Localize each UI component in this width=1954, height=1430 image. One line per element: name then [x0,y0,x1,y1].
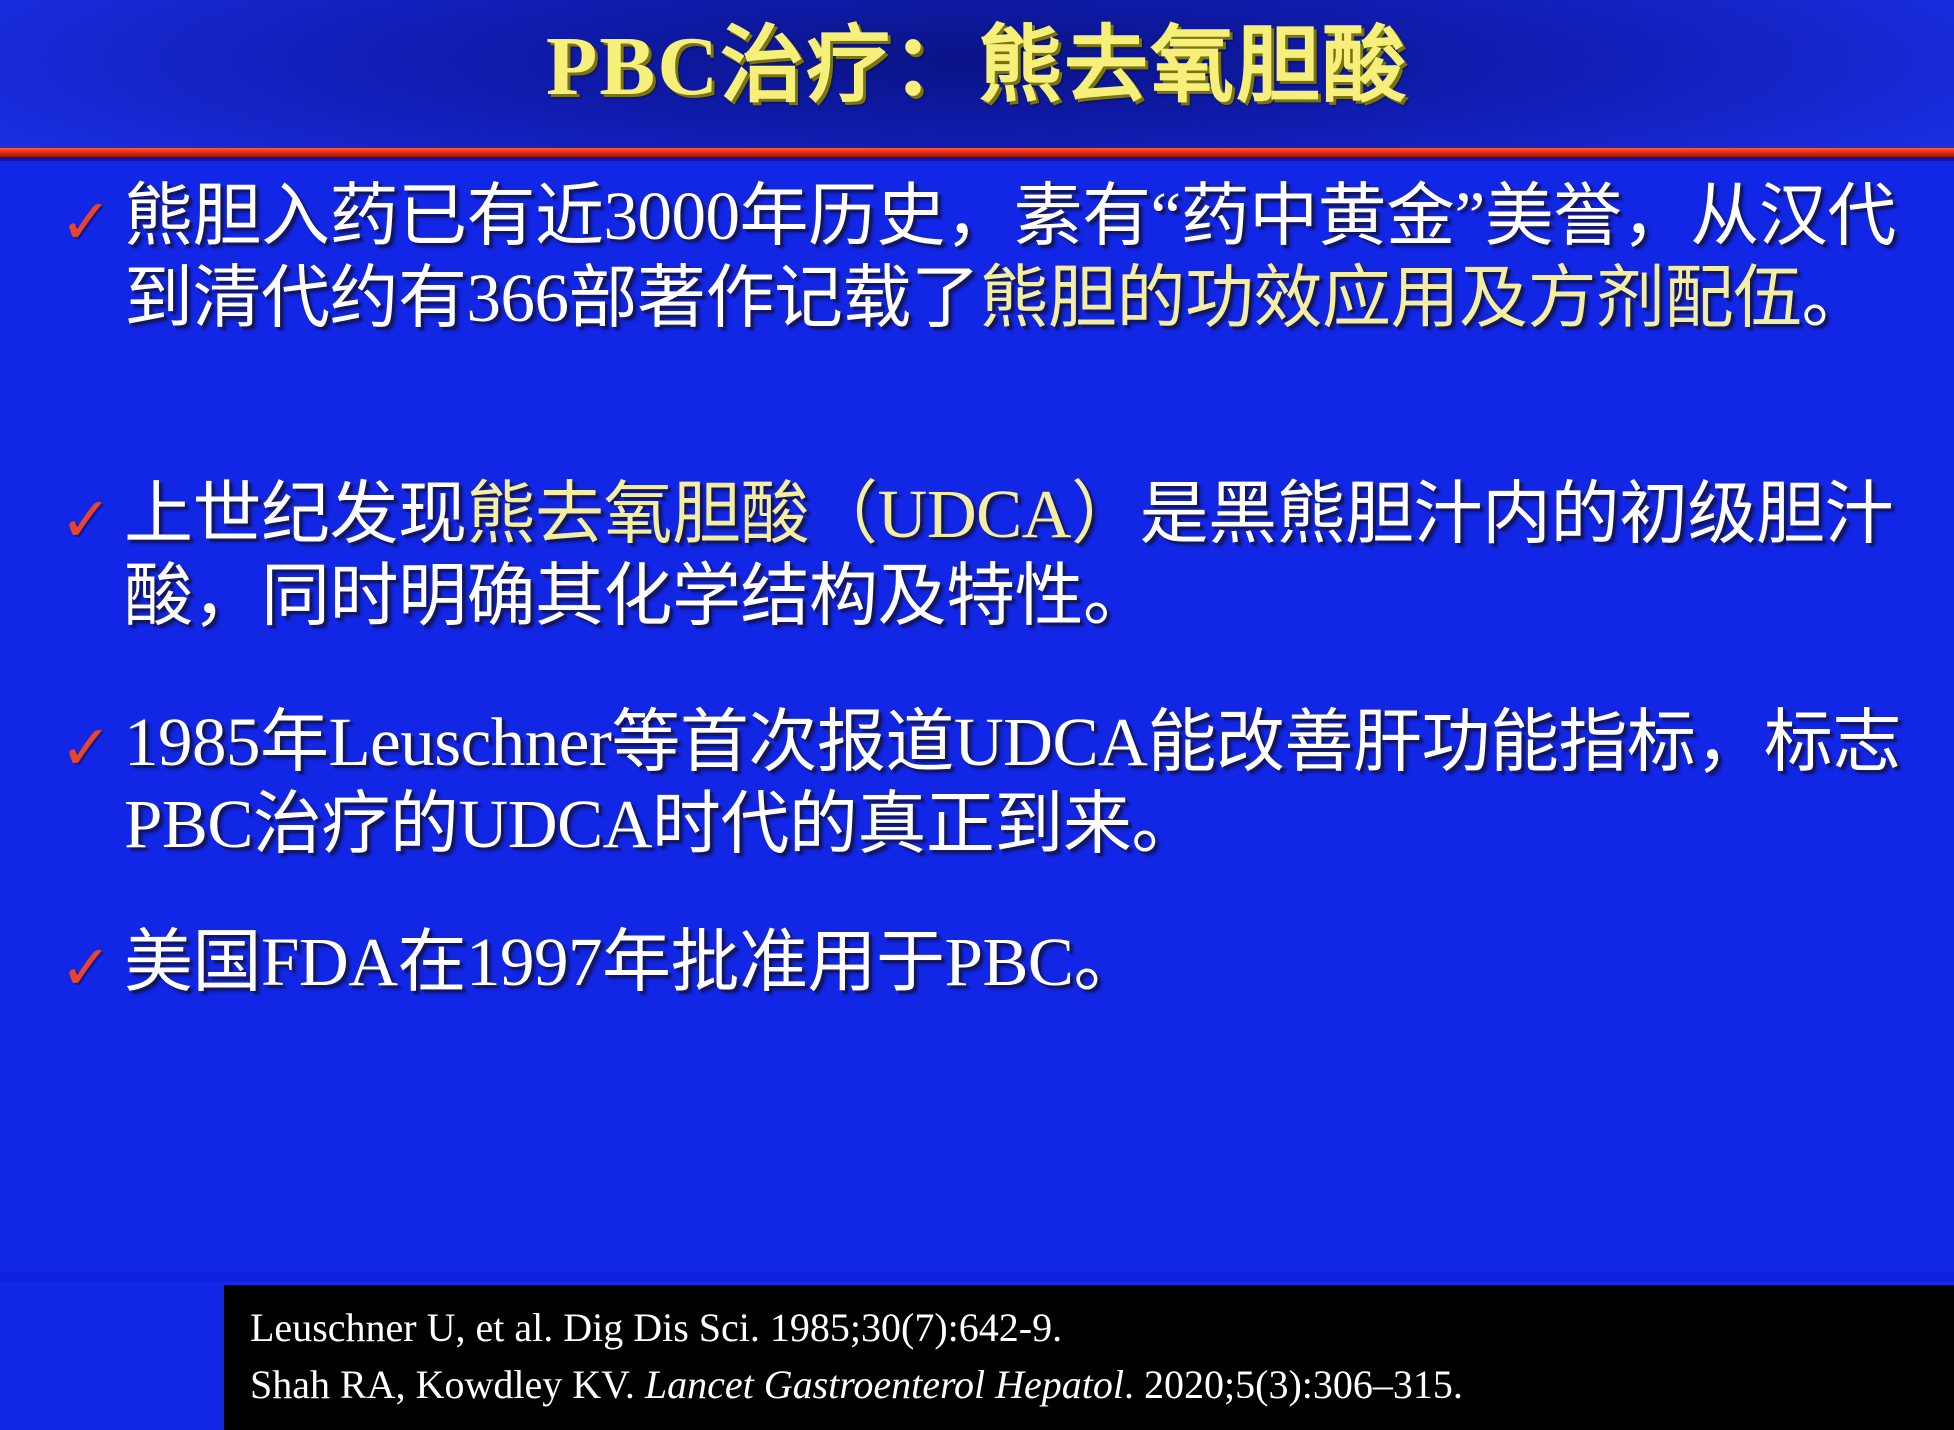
slide-body: ✓ 熊胆入药已有近3000年历史，素有“药中黄金”美誉，从汉代到清代约有366部… [0,161,1954,1271]
bullet-item-1: ✓ 熊胆入药已有近3000年历史，素有“药中黄金”美誉，从汉代到清代约有366部… [60,175,1910,339]
bullet-text-2: 上世纪发现熊去氧胆酸（UDCA）是黑熊胆汁内的初级胆汁酸，同时明确其化学结构及特… [124,473,1910,637]
bullet-item-4: ✓ 美国FDA在1997年批准用于PBC。 [60,921,1910,1011]
slide-header-band: PBC治疗：熊去氧胆酸 [0,0,1954,150]
slide-canvas: PBC治疗：熊去氧胆酸 ✓ 熊胆入药已有近3000年历史，素有“药中黄金”美誉，… [0,0,1954,1430]
bullet-2-segment-1: 上世纪发现 [124,476,467,552]
citation-2-details: . 2020;5(3):306–315. [1124,1362,1463,1407]
slide-title: PBC治疗：熊去氧胆酸 [0,8,1954,126]
bullet-4-segment-1: 美国FDA在1997年批准用于PBC。 [124,924,1142,1000]
bullet-item-2: ✓ 上世纪发现熊去氧胆酸（UDCA）是黑熊胆汁内的初级胆汁酸，同时明确其化学结构… [60,473,1910,637]
checkmark-icon: ✓ [60,175,124,265]
bullet-1-segment-3: 。 [1802,260,1871,336]
checkmark-icon: ✓ [60,473,124,563]
citation-box: Leuschner U, et al. Dig Dis Sci. 1985;30… [224,1282,1954,1430]
bullet-1-segment-2-highlight: 熊胆的功效应用及方剂配伍 [980,260,1802,336]
citation-2-journal: Lancet Gastroenterol Hepatol [645,1362,1124,1407]
checkmark-icon: ✓ [60,921,124,1011]
citation-line-1: Leuschner U, et al. Dig Dis Sci. 1985;30… [250,1299,1954,1356]
citation-line-2: Shah RA, Kowdley KV. Lancet Gastroentero… [250,1356,1954,1413]
bullet-text-3: 1985年Leuschner等首次报道UDCA能改善肝功能指标，标志PBC治疗的… [124,701,1910,865]
citation-left-margin [0,1282,224,1430]
bullet-2-segment-2-highlight: 熊去氧胆酸（UDCA） [467,476,1140,552]
bullet-text-4: 美国FDA在1997年批准用于PBC。 [124,921,1910,1003]
bullet-3-segment-1: 1985年Leuschner等首次报道UDCA能改善肝功能指标，标志PBC治疗的… [124,704,1901,862]
citation-2-authors: Shah RA, Kowdley KV. [250,1362,645,1407]
checkmark-icon: ✓ [60,701,124,791]
bullet-text-1: 熊胆入药已有近3000年历史，素有“药中黄金”美誉，从汉代到清代约有366部著作… [124,175,1910,339]
bullet-item-3: ✓ 1985年Leuschner等首次报道UDCA能改善肝功能指标，标志PBC治… [60,701,1910,865]
title-divider-rule [0,148,1954,157]
